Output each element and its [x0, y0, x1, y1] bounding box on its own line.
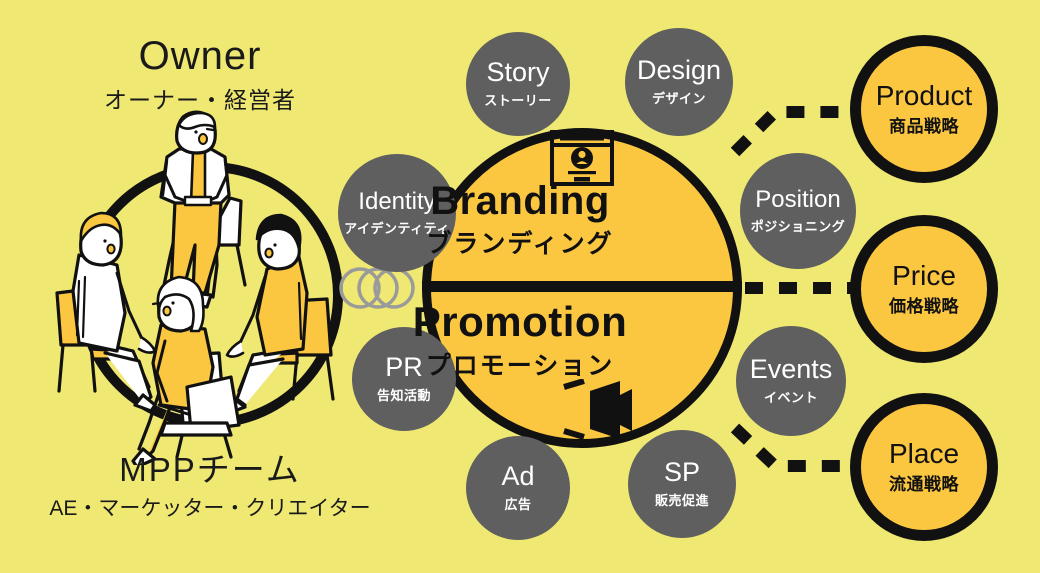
- bubble-ad[interactable]: Ad 広告: [466, 436, 570, 540]
- mpp-title-en: MPPチーム: [0, 452, 420, 488]
- bubble-events-jp: イベント: [764, 387, 818, 406]
- center-branding-label: Branding ブランディング: [0, 180, 1040, 260]
- center-promotion-en: Promotion: [0, 300, 1040, 344]
- bubble-design-en: Design: [637, 57, 721, 84]
- bubble-sp[interactable]: SP 販売促進: [628, 430, 736, 538]
- center-branding-en: Branding: [0, 180, 1040, 222]
- bubble-pr-jp: 告知活動: [377, 385, 431, 404]
- mpp-title-jp: AE・マーケッター・クリエイター: [0, 492, 420, 522]
- p-product-jp: 商品戦略: [889, 112, 959, 137]
- p-price-en: Price: [892, 261, 956, 290]
- p-circle-product[interactable]: Product 商品戦略: [850, 35, 998, 183]
- center-promotion-jp: プロモーション: [0, 346, 1040, 382]
- bubble-design-jp: デザイン: [652, 88, 706, 107]
- center-divider: [422, 281, 742, 292]
- p-place-jp: 流通戦略: [889, 470, 959, 495]
- connector-branding-to-product: [735, 112, 862, 152]
- bubble-sp-en: SP: [664, 459, 700, 486]
- center-branding-jp: ブランディング: [0, 224, 1040, 260]
- bubble-sp-jp: 販売促進: [655, 490, 709, 509]
- megaphone-icon: [562, 379, 640, 441]
- bubble-story[interactable]: Story ストーリー: [466, 32, 570, 136]
- p-place-en: Place: [889, 439, 959, 468]
- infographic-canvas: Owner オーナー・経営者: [0, 0, 1040, 573]
- bubble-ad-jp: 広告: [504, 494, 531, 513]
- bubble-design[interactable]: Design デザイン: [625, 28, 733, 136]
- p-product-en: Product: [876, 81, 973, 110]
- team-illustration: [55, 105, 365, 465]
- bubble-ad-en: Ad: [501, 463, 534, 490]
- owner-title-en: Owner: [0, 34, 400, 78]
- mpp-heading: MPPチーム AE・マーケッター・クリエイター: [0, 452, 420, 522]
- p-circle-place[interactable]: Place 流通戦略: [850, 393, 998, 541]
- center-promotion-label: Promotion プロモーション: [0, 300, 1040, 382]
- bubble-story-en: Story: [486, 59, 549, 86]
- owner-heading: Owner オーナー・経営者: [0, 34, 400, 115]
- bubble-story-jp: ストーリー: [484, 90, 552, 109]
